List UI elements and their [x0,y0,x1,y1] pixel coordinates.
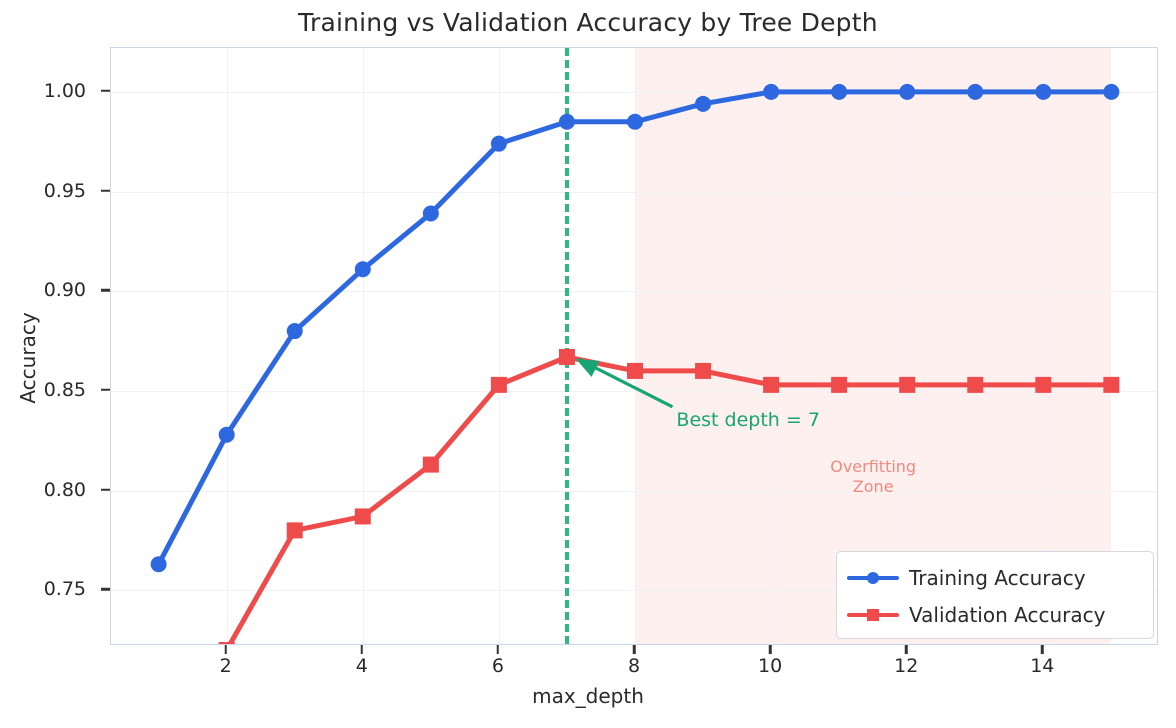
data-point [831,377,847,393]
data-point [763,377,779,393]
data-point [967,377,983,393]
x-axis-tick-mark [497,645,500,654]
y-axis-tick-mark [101,189,110,192]
x-axis-tick-label: 6 [492,655,504,677]
data-point [355,508,371,524]
x-axis-tick-label: 8 [628,655,640,677]
data-point [559,114,575,130]
y-axis-tick-label: 0.95 [6,180,86,202]
y-axis-tick-mark [101,488,110,491]
legend-item-training[interactable]: Training Accuracy [847,559,1143,596]
x-axis-tick-mark [361,645,364,654]
data-point [423,205,439,221]
x-axis-tick-label: 2 [220,655,232,677]
chart-legend[interactable]: Training Accuracy Validation Accuracy [836,551,1154,639]
data-point [1103,84,1119,100]
data-point [627,114,643,130]
data-point [287,522,303,538]
x-axis-tick-label: 14 [1030,655,1054,677]
data-point [899,377,915,393]
data-point [491,377,507,393]
data-point [967,84,983,100]
chart-figure: Training vs Validation Accuracy by Tree … [0,0,1176,728]
y-axis-label: Accuracy [16,268,40,448]
data-point [287,323,303,339]
overfitting-zone-line1: Overfitting [830,457,916,476]
data-point [899,84,915,100]
data-point [1035,377,1051,393]
overfitting-zone-label: OverfittingZone [793,457,953,497]
legend-swatch-training [847,568,899,588]
legend-label-validation: Validation Accuracy [909,603,1105,627]
x-axis-tick-mark [905,645,908,654]
data-point [151,556,167,572]
data-point [831,84,847,100]
data-point [219,427,235,443]
data-point [1103,377,1119,393]
data-point [423,457,439,473]
legend-label-training: Training Accuracy [909,566,1086,590]
y-axis-tick-label: 1.00 [6,80,86,102]
data-point [559,349,575,365]
x-axis-tick-mark [224,645,227,654]
x-axis-label: max_depth [0,684,1176,708]
y-axis-tick-mark [101,90,110,93]
data-point [491,136,507,152]
legend-swatch-validation [847,605,899,625]
legend-item-validation[interactable]: Validation Accuracy [847,596,1143,633]
data-point [627,363,643,379]
x-axis-tick-mark [633,645,636,654]
y-axis-tick-label: 0.75 [6,578,86,600]
y-axis-tick-mark [101,289,110,292]
x-axis-tick-mark [769,645,772,654]
x-axis-tick-mark [1041,645,1044,654]
chart-title: Training vs Validation Accuracy by Tree … [0,8,1176,37]
overfitting-zone-line2: Zone [853,477,894,496]
x-axis-tick-label: 12 [894,655,918,677]
data-point [355,261,371,277]
annotation-best-depth-label: Best depth = 7 [676,409,820,431]
y-axis-tick-mark [101,588,110,591]
x-axis-tick-label: 4 [356,655,368,677]
x-axis-tick-label: 10 [758,655,782,677]
data-point [695,96,711,112]
data-point [695,363,711,379]
data-point [763,84,779,100]
y-axis-tick-mark [101,389,110,392]
y-axis-tick-label: 0.80 [6,479,86,501]
data-point [1035,84,1051,100]
